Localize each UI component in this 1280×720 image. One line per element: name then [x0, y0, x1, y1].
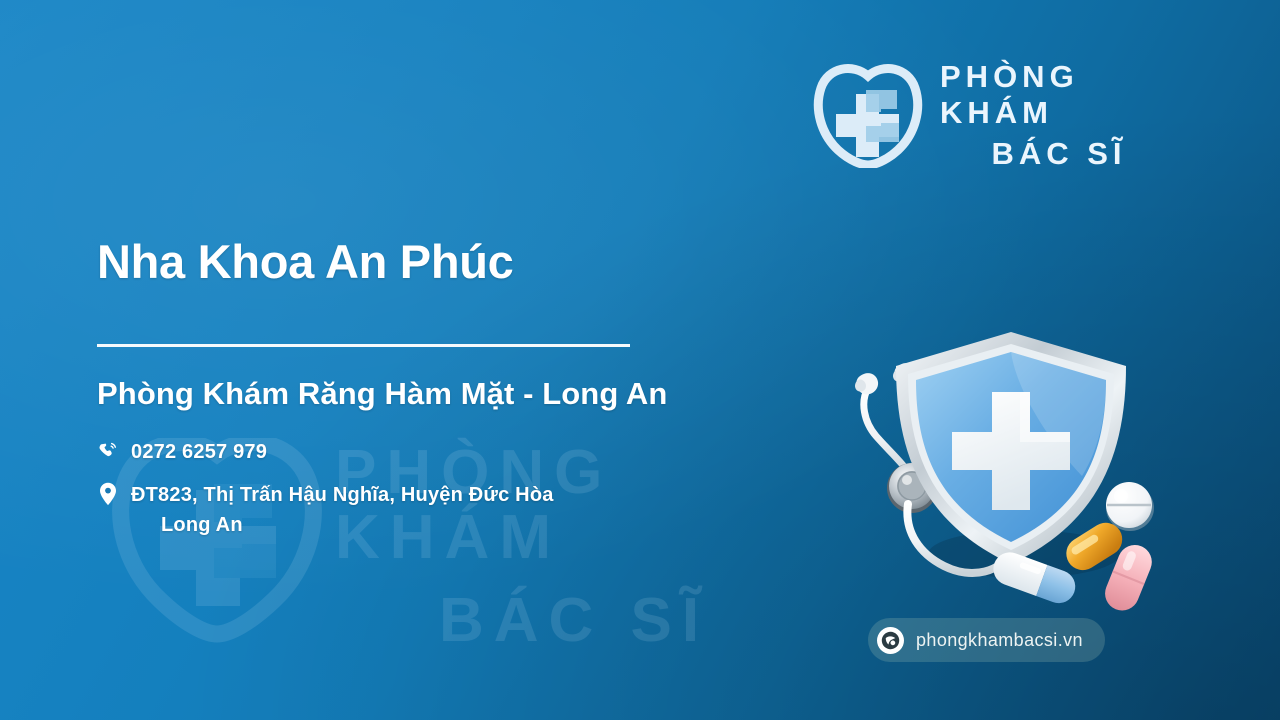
- watermark-line-2: BÁC SĨ: [439, 588, 830, 653]
- clinic-banner: PHÒNG KHÁM BÁC SĨ PHÒNG KHÁM BÁC SĨ Nha …: [0, 0, 1280, 720]
- brand-logo-text: PHÒNG KHÁM BÁC SĨ: [940, 59, 1178, 173]
- stethoscope-earpiece-left: [855, 373, 878, 394]
- address-line-1: ĐT823, Thị Trấn Hậu Nghĩa, Huyện Đức Hòa: [131, 484, 554, 506]
- medical-heart-cross-logo-icon: [812, 64, 924, 168]
- address-row[interactable]: ĐT823, Thị Trấn Hậu Nghĩa, Huyện Đức Hòa…: [97, 481, 837, 540]
- phone-row[interactable]: 0272 6257 979: [97, 438, 837, 468]
- brand-logo: PHÒNG KHÁM BÁC SĨ: [812, 58, 1178, 173]
- address: ĐT823, Thị Trấn Hậu Nghĩa, Huyện Đức Hòa…: [131, 481, 554, 540]
- phone-call-icon: [97, 438, 119, 464]
- medical-illustration: [846, 318, 1176, 623]
- pill-white-round-tablet: [1106, 482, 1154, 531]
- contact-info: 0272 6257 979 ĐT823, Thị Trấn Hậu Nghĩa,…: [97, 438, 837, 541]
- map-pin-icon: [97, 481, 119, 507]
- brand-logo-line-1: PHÒNG KHÁM: [940, 59, 1178, 132]
- clinic-subtitle: Phòng Khám Răng Hàm Mặt - Long An: [97, 376, 837, 412]
- globe-icon: [877, 627, 904, 654]
- website-url: phongkhambacsi.vn: [916, 630, 1083, 651]
- clinic-info-block: Nha Khoa An Phúc Phòng Khám Răng Hàm Mặt…: [97, 236, 837, 554]
- divider: [97, 344, 630, 347]
- clinic-name: Nha Khoa An Phúc: [97, 236, 837, 289]
- brand-logo-line-2: BÁC SĨ: [940, 136, 1178, 173]
- address-line-2: Long An: [161, 511, 554, 541]
- website-badge[interactable]: phongkhambacsi.vn: [868, 618, 1105, 662]
- phone-number: 0272 6257 979: [131, 438, 267, 468]
